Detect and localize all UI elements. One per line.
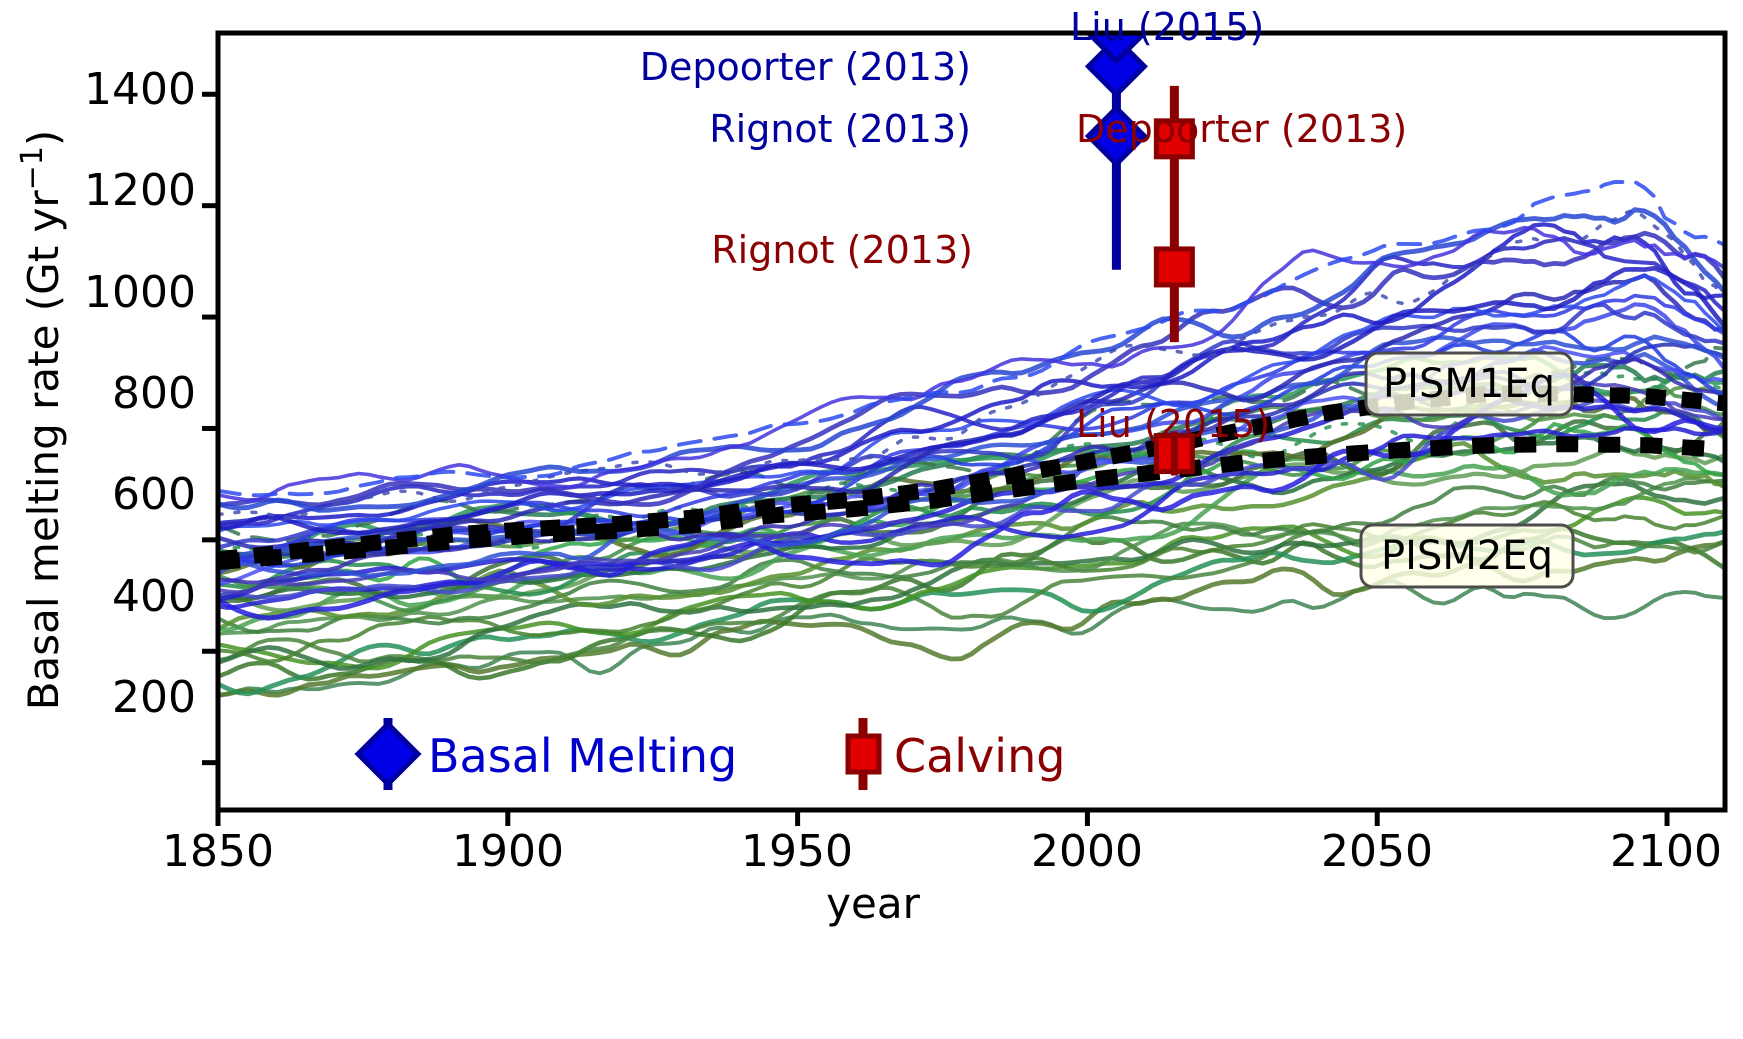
y-tick-label-600: 600 [112, 469, 196, 520]
annotation-rignot-basal: Rignot (2013) [709, 107, 971, 151]
y-axis-title-tail: ) [19, 130, 68, 146]
square-icon [848, 736, 879, 772]
annotation-depoorter-calving: Depoorter (2013) [1076, 107, 1407, 151]
x-tick-label-2000: 2000 [1031, 826, 1143, 877]
legend-label-calving: Calving [894, 729, 1065, 783]
svg-text:Basal melting rate (Gt yr−1): Basal melting rate (Gt yr−1) [15, 130, 68, 711]
x-tick-label-1950: 1950 [741, 826, 853, 877]
x-tick-label-2050: 2050 [1321, 826, 1433, 877]
y-tick-label-400: 400 [112, 571, 196, 622]
x-tick-label-1900: 1900 [452, 826, 564, 877]
y-tick-label-800: 800 [112, 368, 196, 419]
pism2eq-label: PISM2Eq [1381, 533, 1553, 579]
y-tick-label-1400: 1400 [84, 64, 196, 115]
y-axis-title-main: Basal melting rate (Gt yr [19, 190, 68, 711]
annotation-liu-basal: Liu (2015) [1070, 5, 1264, 49]
pism1eq-label: PISM1Eq [1383, 361, 1555, 407]
pism1eq-label-box: PISM1Eq [1366, 353, 1572, 415]
legend-label-basal-melting: Basal Melting [428, 729, 737, 783]
x-tick-label-2100: 2100 [1610, 826, 1722, 877]
legend: Basal Melting Calving [358, 718, 1065, 790]
x-axis-title: year [826, 879, 920, 928]
basal-melting-rate-chart: 1400 1200 1000 800 600 400 200 1850 1900… [0, 0, 1743, 1039]
x-tick-label-1850: 1850 [162, 826, 274, 877]
annotation-rignot-calving: Rignot (2013) [711, 228, 973, 272]
y-axis-title-superscript: −1 [15, 146, 50, 190]
annotation-depoorter-basal: Depoorter (2013) [640, 45, 971, 89]
y-tick-label-200: 200 [112, 672, 196, 723]
y-tick-label-1000: 1000 [84, 267, 196, 318]
annotation-liu-calving: Liu (2015) [1076, 402, 1270, 446]
y-tick-label-1200: 1200 [84, 165, 196, 216]
pism2eq-label-box: PISM2Eq [1361, 525, 1573, 587]
y-axis-title: Basal melting rate (Gt yr−1) [15, 130, 68, 711]
chart-figure: 1400 1200 1000 800 600 400 200 1850 1900… [0, 0, 1743, 1039]
